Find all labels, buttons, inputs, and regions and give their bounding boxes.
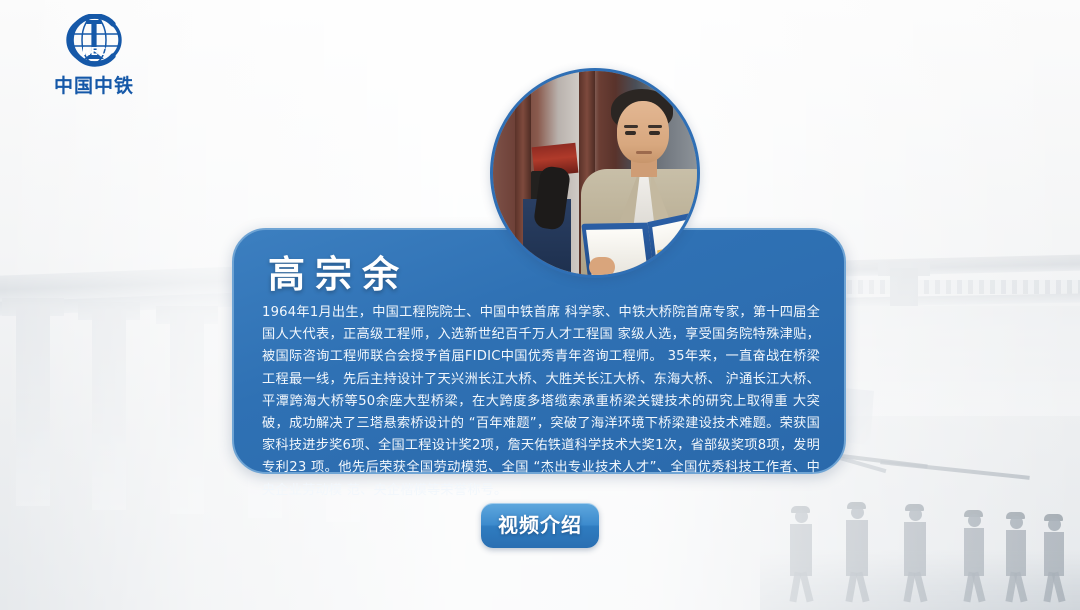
crec-globe-logo-icon: REC <box>34 14 154 68</box>
person-name: 高宗余 <box>268 244 409 298</box>
video-intro-button[interactable]: 视频介绍 <box>481 503 599 548</box>
slide-root: REC 中国中铁 <box>0 0 1080 610</box>
portrait-photo <box>490 68 700 278</box>
brand-logo: REC 中国中铁 <box>34 14 154 98</box>
person-biography: 1964年1月出生，中国工程院院士、中国中铁首席 科学家、中铁大桥院首席专家，第… <box>262 302 820 502</box>
brand-name: 中国中铁 <box>34 71 154 98</box>
video-intro-button-label: 视频介绍 <box>481 503 599 548</box>
svg-text:REC: REC <box>82 45 106 58</box>
